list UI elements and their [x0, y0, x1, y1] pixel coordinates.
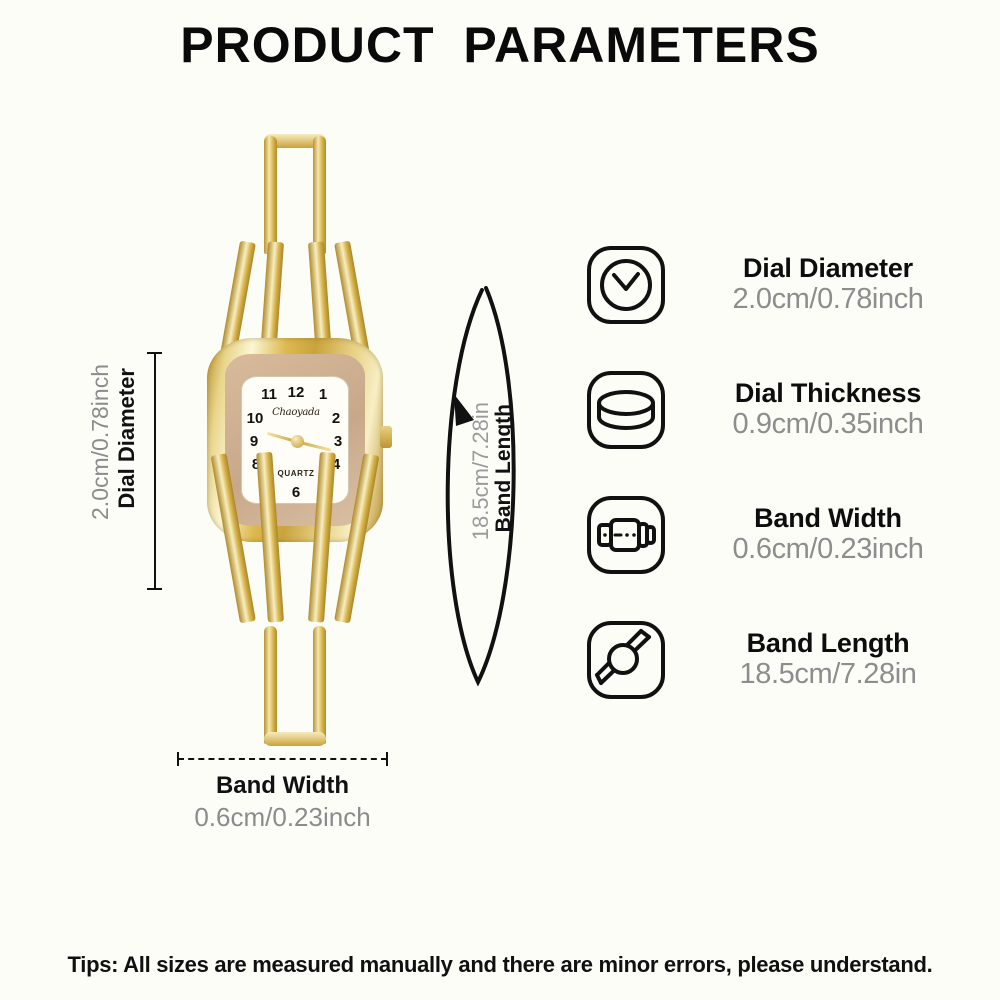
spec-label: Band Length: [685, 628, 971, 658]
watch-product-image: Chaoyada QUARTZ 12 1 2 3 4 5 6 7 8 9 10 …: [200, 130, 390, 750]
band-length-value: 18.5cm/7.28in: [468, 402, 494, 540]
watch-strap-icon: [585, 619, 667, 701]
spec-row-band-length: Band Length 18.5cm/7.28in: [585, 597, 975, 722]
band-length-label: Band Length: [492, 404, 516, 532]
clock-icon: [585, 244, 667, 326]
spec-text-band-length: Band Length 18.5cm/7.28in: [685, 628, 975, 692]
watch-case-inner: Chaoyada QUARTZ 12 1 2 3 4 5 6 7 8 9 10 …: [225, 354, 365, 526]
spec-value: 0.6cm/0.23inch: [685, 533, 971, 567]
spec-text-dial-thickness: Dial Thickness 0.9cm/0.35inch: [685, 378, 975, 442]
disc-icon: [585, 369, 667, 451]
bracelet-rail-right: [313, 136, 326, 254]
bracelet-rail-left-lower: [264, 626, 277, 744]
spec-row-dial-thickness: Dial Thickness 0.9cm/0.35inch: [585, 347, 975, 472]
watch-crown: [380, 426, 392, 448]
dial-diameter-value: 2.0cm/0.78inch: [87, 364, 114, 520]
dial-diameter-dimension: Dial Diameter 2.0cm/0.78inch: [52, 352, 162, 590]
spec-value: 18.5cm/7.28in: [685, 658, 971, 692]
dial-numeral-11: 11: [260, 387, 278, 402]
dial-diameter-label: Dial Diameter: [114, 368, 140, 509]
spec-label: Dial Diameter: [685, 253, 971, 283]
spec-label: Dial Thickness: [685, 378, 971, 408]
dial-numeral-3: 3: [329, 434, 347, 449]
band-width-value: 0.6cm/0.23inch: [175, 802, 390, 833]
bracelet-upper: [200, 130, 390, 370]
dimension-tick-right: [386, 752, 388, 766]
strap-buckle-icon: [585, 494, 667, 576]
bracelet-rail-left: [264, 136, 277, 254]
spec-value: 0.9cm/0.35inch: [685, 408, 971, 442]
dial-numeral-10: 10: [246, 411, 264, 426]
spec-label: Band Width: [685, 503, 971, 533]
bracelet-lower: [200, 510, 390, 750]
dimension-cap-bottom: [147, 588, 162, 590]
spec-text-band-width: Band Width 0.6cm/0.23inch: [685, 503, 975, 567]
tips-note: Tips: All sizes are measured manually an…: [0, 952, 1000, 978]
bracelet-bottom-cap: [264, 732, 326, 746]
spec-row-band-width: Band Width 0.6cm/0.23inch: [585, 472, 975, 597]
spec-text-dial-diameter: Dial Diameter 2.0cm/0.78inch: [685, 253, 975, 317]
spec-list: Dial Diameter 2.0cm/0.78inch Dial Thickn…: [585, 222, 975, 722]
dial-numeral-12: 12: [287, 385, 305, 400]
band-width-label: Band Width: [175, 772, 390, 800]
band-width-dimension: Band Width 0.6cm/0.23inch: [175, 752, 390, 833]
band-length-dimension: Band Length 18.5cm/7.28in: [430, 262, 550, 702]
spec-value: 2.0cm/0.78inch: [685, 283, 971, 317]
bracelet-rail-right-lower: [313, 626, 326, 744]
dial-numeral-6: 6: [287, 485, 305, 500]
dimension-line-horizontal: [175, 752, 390, 766]
dial-numeral-1: 1: [314, 387, 332, 402]
product-parameters-page: PRODUCT PARAMETERS Chaoyada QUARTZ 12 1 …: [0, 0, 1000, 1000]
spec-row-dial-diameter: Dial Diameter 2.0cm/0.78inch: [585, 222, 975, 347]
dial-numeral-2: 2: [327, 411, 345, 426]
dimension-line-vertical: [154, 352, 156, 590]
dial-numeral-9: 9: [245, 434, 263, 449]
dial-center-pin: [291, 435, 304, 448]
dimension-cap-top: [147, 352, 162, 354]
dimension-dashes: [178, 758, 387, 760]
dimension-tick-left: [177, 752, 179, 766]
page-title: PRODUCT PARAMETERS: [0, 16, 1000, 74]
